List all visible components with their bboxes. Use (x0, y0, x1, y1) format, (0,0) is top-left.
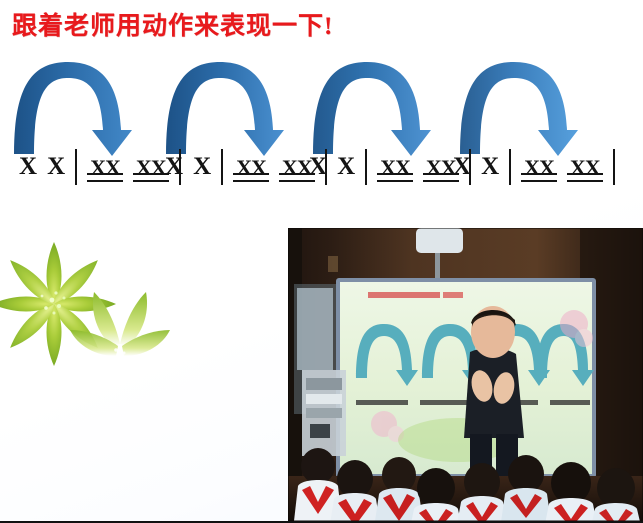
rhythm-note: X (304, 152, 332, 182)
rhythm-note: X (188, 152, 216, 182)
flower-decoration (0, 232, 192, 387)
rhythm-note: X (14, 152, 42, 182)
rhythm-beamed-pair: XX (521, 153, 557, 183)
rhythm-note: X (448, 152, 476, 182)
arrow-row (0, 58, 643, 158)
rhythm-beamed-pair: XX (377, 153, 413, 183)
slide-canvas: 跟着老师用动作来表现一下! (0, 0, 643, 523)
rhythm-note: X (332, 152, 360, 182)
equipment-rack (302, 370, 346, 456)
arrow-4-curved-arrow-icon (452, 58, 592, 158)
board-title-text (368, 292, 463, 298)
rhythm-note: X (160, 152, 188, 182)
slide-title: 跟着老师用动作来表现一下! (12, 6, 333, 42)
barline (221, 149, 223, 185)
rhythm-group-4: X X XX XX (448, 152, 620, 198)
rhythm-beamed-pair: XX (567, 153, 603, 183)
barline (365, 149, 367, 185)
arrow-2-curved-arrow-icon (158, 58, 298, 158)
barline (509, 149, 511, 185)
rhythm-beamed-pair: XX (87, 153, 123, 183)
barline (75, 149, 77, 185)
rhythm-note: X (42, 152, 70, 182)
arrow-1-curved-arrow-icon (6, 58, 146, 158)
rhythm-beamed-pair: XX (233, 153, 269, 183)
rhythm-notation-row: X X XX XX X X XX XX X X XX XX X X (0, 152, 643, 200)
classroom-lesson-photo (288, 228, 643, 521)
barline (613, 149, 615, 185)
arrow-3-curved-arrow-icon (305, 58, 445, 158)
rhythm-note: X (476, 152, 504, 182)
